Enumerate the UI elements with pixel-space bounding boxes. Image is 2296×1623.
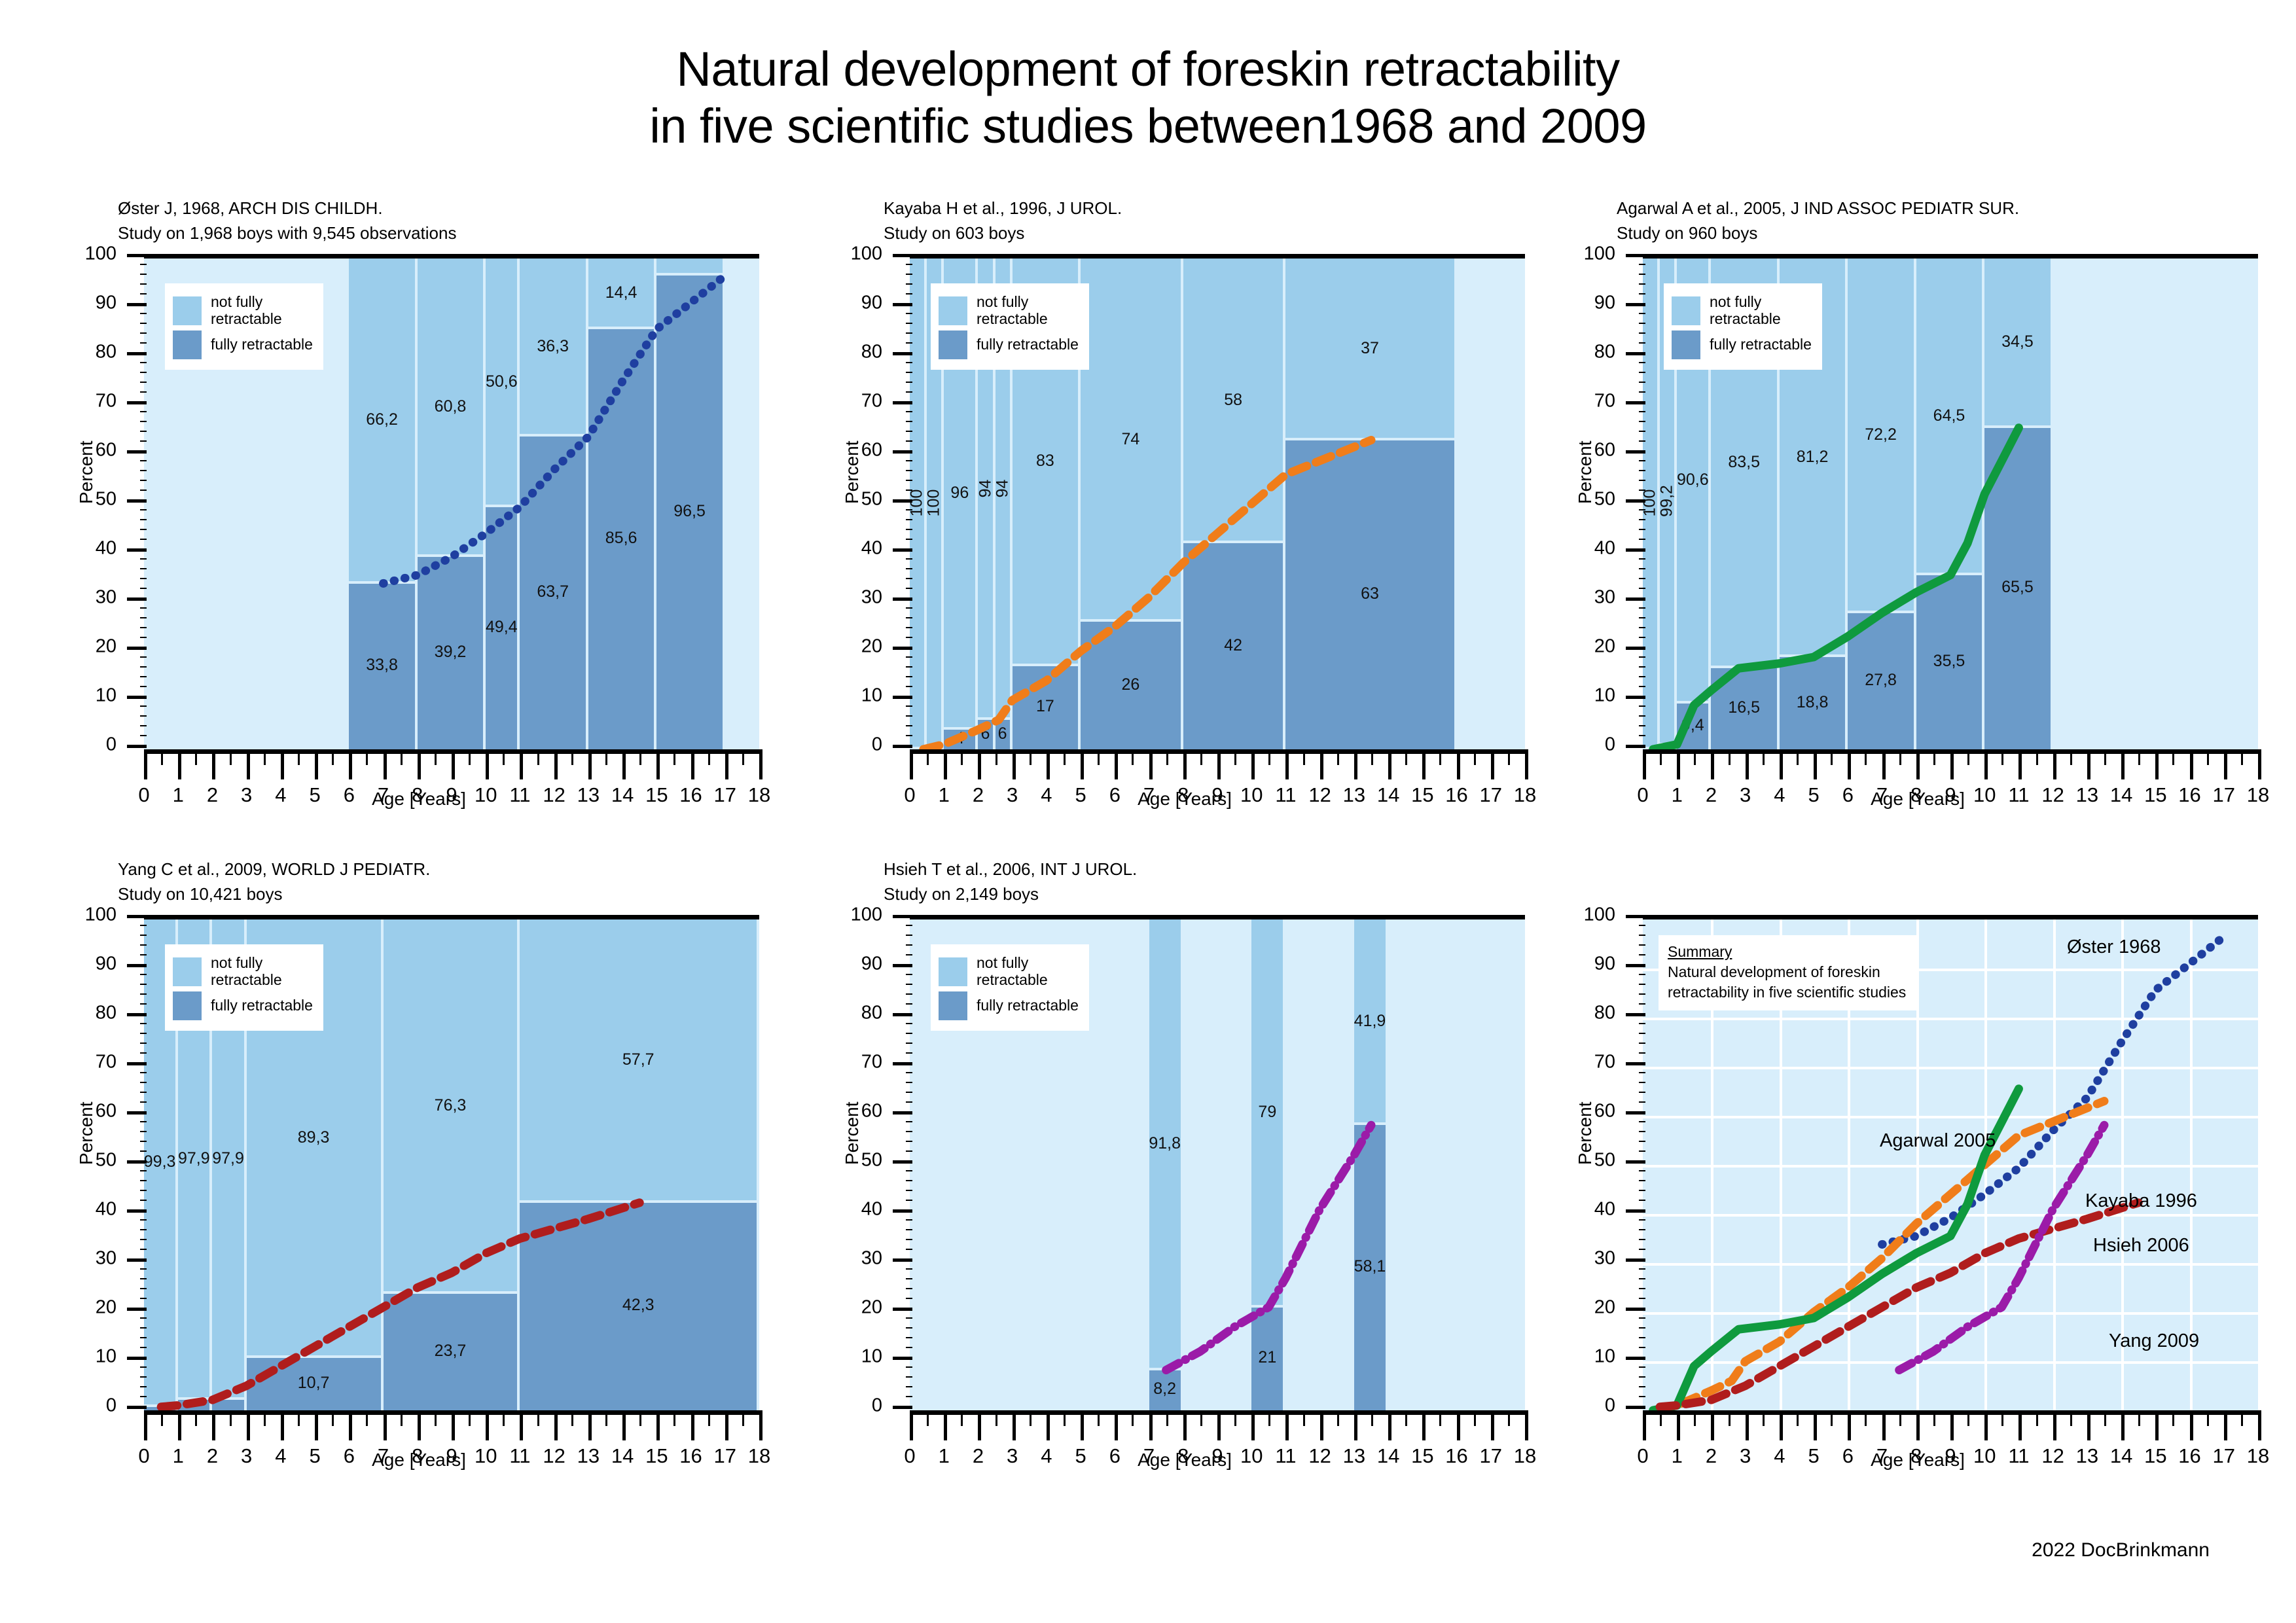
y-tick [1626, 499, 1645, 503]
x-tick [1797, 1410, 1799, 1426]
y-tick [1639, 607, 1645, 609]
x-tick [691, 1410, 694, 1440]
y-tick [1639, 1003, 1645, 1005]
x-tick [366, 1410, 368, 1426]
y-tick [1639, 411, 1645, 412]
y-tick [906, 1298, 912, 1299]
x-tick [927, 749, 929, 765]
y-tick [140, 1101, 147, 1103]
x-tick [1780, 749, 1783, 779]
y-tick-label: 10 [71, 685, 117, 707]
x-tick [2138, 749, 2140, 765]
y-tick [906, 460, 912, 461]
y-tick [1639, 715, 1645, 717]
y-tick [127, 1308, 147, 1311]
y-tick [1639, 323, 1645, 324]
x-tick [1694, 749, 1696, 765]
chart-citation: Yang C et al., 2009, WORLD J PEDIATR. [118, 857, 430, 882]
y-tick [893, 254, 912, 257]
y-tick [140, 1278, 147, 1279]
y-tick [1639, 993, 1645, 995]
x-tick [178, 1410, 181, 1440]
legend-swatch-dark-icon [173, 330, 202, 359]
x-tick [1081, 1410, 1084, 1440]
y-tick [140, 411, 147, 412]
x-tick [1967, 749, 1969, 765]
x-tick [1763, 749, 1765, 765]
chart-study-size: Study on 1,968 boys with 9,545 observati… [118, 221, 456, 246]
x-tick [1132, 749, 1134, 765]
y-tick [127, 745, 147, 748]
legend-swatch-dark-icon [173, 991, 202, 1020]
x-tick [961, 749, 963, 765]
x-tick [2258, 749, 2261, 779]
y-tick [906, 342, 912, 344]
y-tick [127, 915, 147, 918]
chart-panel-summary: SummaryNatural development of foreskinre… [1577, 857, 2296, 1512]
x-tick [1422, 749, 1426, 779]
x-tick [1268, 749, 1270, 765]
x-tick [1643, 1410, 1646, 1440]
x-tick [1047, 749, 1050, 779]
x-tick [486, 749, 489, 779]
y-tick [906, 935, 912, 936]
y-tick [906, 431, 912, 432]
y-tick [127, 696, 147, 699]
y-tick [906, 627, 912, 628]
legend-item-fully-retractable: fully retractable [173, 991, 313, 1020]
x-tick [927, 1410, 929, 1426]
trend-line-hsieh [1166, 1125, 1371, 1370]
title-line-1: Natural development of foreskin retracta… [0, 41, 2296, 98]
y-tick [906, 637, 912, 638]
x-tick [332, 749, 334, 765]
y-tick [1639, 1131, 1645, 1132]
copyright-footer: 2022 DocBrinkmann [2032, 1539, 2210, 1561]
y-tick [906, 1200, 912, 1201]
y-tick [140, 342, 147, 344]
x-tick [332, 1410, 334, 1426]
y-tick [906, 539, 912, 540]
y-tick [1639, 1043, 1645, 1044]
y-tick [906, 1268, 912, 1270]
x-tick [1115, 1410, 1118, 1440]
x-tick [1354, 749, 1357, 779]
y-tick [1639, 1052, 1645, 1054]
y-tick [140, 578, 147, 579]
y-tick [140, 480, 147, 481]
y-tick [140, 323, 147, 324]
x-tick [1234, 749, 1236, 765]
y-tick [1639, 421, 1645, 422]
y-tick [906, 676, 912, 677]
x-tick [161, 749, 163, 765]
x-tick [195, 1410, 197, 1426]
x-tick [588, 1410, 592, 1440]
y-tick [906, 617, 912, 618]
x-tick [435, 749, 437, 765]
x-tick [401, 1410, 403, 1426]
y-tick [127, 964, 147, 967]
y-tick [140, 362, 147, 363]
x-tick [2207, 749, 2209, 765]
y-tick [906, 1072, 912, 1073]
y-tick [1639, 1200, 1645, 1201]
y-axis-label: Percent [1575, 1102, 1596, 1166]
trend-line-agarwal [1653, 428, 2019, 749]
y-tick [1639, 588, 1645, 589]
trend-line-kayaba [924, 440, 1371, 750]
y-tick [1639, 440, 1645, 442]
y-tick [906, 588, 912, 589]
x-tick [1388, 749, 1391, 779]
chart-header: Kayaba H et al., 1996, J UROL.Study on 6… [884, 196, 1122, 245]
y-tick [906, 470, 912, 471]
legend-item-fully-retractable: fully retractable [939, 991, 1079, 1020]
legend-item-fully-retractable: fully retractable [173, 330, 313, 359]
y-tick [1626, 1209, 1645, 1213]
chart-legend: not fullyretractablefully retractable [165, 944, 323, 1031]
x-tick [639, 1410, 641, 1426]
y-tick [127, 1406, 147, 1409]
x-tick [725, 1410, 728, 1440]
y-tick [1626, 254, 1645, 257]
x-tick [281, 749, 284, 779]
y-tick [1639, 382, 1645, 383]
y-tick-label: 30 [1570, 587, 1615, 609]
y-tick-label: 0 [836, 734, 882, 756]
y-tick [1626, 1111, 1645, 1115]
y-axis: 0102030405060708090100 [1618, 254, 1645, 745]
y-tick-label: 20 [71, 1297, 117, 1319]
y-tick [127, 1357, 147, 1360]
y-tick [140, 735, 147, 736]
x-tick [2258, 1410, 2261, 1440]
y-tick-label: 10 [1570, 685, 1615, 707]
x-tick [1149, 1410, 1153, 1440]
x-tick [1200, 1410, 1202, 1426]
y-tick [140, 529, 147, 530]
y-tick [140, 617, 147, 618]
x-tick [1303, 749, 1305, 765]
y-tick [906, 1347, 912, 1348]
y-tick-label: 90 [836, 954, 882, 975]
x-tick [161, 1410, 163, 1426]
x-tick [1525, 749, 1528, 779]
x-axis: 0123456789101112131415161718 [1643, 1410, 2258, 1482]
y-tick-label: 70 [71, 1052, 117, 1073]
y-tick [140, 283, 147, 285]
y-tick [140, 1317, 147, 1319]
x-tick [2207, 1410, 2209, 1426]
x-tick [1064, 1410, 1066, 1426]
x-tick [1525, 1410, 1528, 1440]
x-tick [2053, 1410, 2056, 1440]
y-tick [906, 725, 912, 726]
x-tick [2070, 749, 2072, 765]
x-tick [1882, 749, 1886, 779]
x-tick [2224, 1410, 2227, 1440]
x-tick [1047, 1410, 1050, 1440]
x-tick [2018, 1410, 2022, 1440]
y-tick [140, 274, 147, 275]
x-tick [2241, 1410, 2243, 1426]
y-tick [1639, 1249, 1645, 1250]
x-tick [1149, 749, 1153, 779]
x-tick [1251, 749, 1255, 779]
y-tick [127, 1209, 147, 1213]
y-tick [1639, 460, 1645, 461]
y-tick [1639, 490, 1645, 491]
y-tick [1639, 1121, 1645, 1122]
y-tick-label: 100 [71, 904, 117, 926]
x-axis-label: Age [Years] [79, 789, 759, 810]
y-tick-label: 40 [836, 1199, 882, 1221]
x-tick [1950, 749, 1954, 779]
x-tick [401, 749, 403, 765]
y-tick [906, 1239, 912, 1240]
y-tick-label: 80 [71, 342, 117, 363]
y-tick [893, 1406, 912, 1409]
y-tick-label: 80 [836, 1003, 882, 1024]
y-tick [140, 431, 147, 432]
y-tick [1626, 1062, 1645, 1065]
y-tick [1639, 362, 1645, 363]
y-axis-label: Percent [76, 1102, 97, 1166]
y-tick [1639, 1239, 1645, 1240]
x-tick [554, 1410, 558, 1440]
x-axis-label: Age [Years] [1577, 789, 2258, 810]
y-tick [127, 1258, 147, 1262]
y-tick [906, 274, 912, 275]
x-tick [1320, 1410, 1323, 1440]
y-tick [906, 1101, 912, 1103]
x-tick [1508, 1410, 1510, 1426]
y-tick-label: 20 [71, 636, 117, 658]
y-tick [906, 1278, 912, 1279]
y-tick [140, 490, 147, 491]
y-tick [127, 647, 147, 650]
x-tick [656, 1410, 660, 1440]
y-tick [1626, 745, 1645, 748]
y-tick [140, 1141, 147, 1142]
x-tick [418, 1410, 421, 1440]
y-tick [1639, 1219, 1645, 1221]
chart-study-size: Study on 10,421 boys [118, 882, 430, 907]
title-line-2: in five scientific studies between1968 a… [0, 98, 2296, 154]
y-tick [1626, 352, 1645, 355]
series-label-yang: Yang 2009 [2109, 1330, 2199, 1352]
y-tick [140, 1072, 147, 1073]
y-tick [140, 588, 147, 589]
x-tick [1013, 1410, 1016, 1440]
x-tick [961, 1410, 963, 1426]
y-tick [906, 529, 912, 530]
x-tick [469, 749, 471, 765]
y-tick [1639, 431, 1645, 432]
y-tick [893, 499, 912, 503]
x-tick [2121, 749, 2125, 779]
x-tick [1098, 749, 1100, 765]
y-axis-label: Percent [842, 1102, 863, 1166]
x-tick [452, 1410, 455, 1440]
y-tick [906, 1190, 912, 1191]
y-tick-label: 30 [1570, 1248, 1615, 1270]
y-tick [140, 440, 147, 442]
y-tick [1639, 676, 1645, 677]
y-tick [906, 1033, 912, 1034]
y-tick [140, 656, 147, 658]
legend-swatch-dark-icon [1672, 330, 1700, 359]
y-tick [1626, 647, 1645, 650]
series-label-agarwal: Agarwal 2005 [1880, 1130, 1996, 1152]
page-title: Natural development of foreskin retracta… [0, 41, 2296, 155]
x-tick [1865, 749, 1867, 765]
legend-label-fully-retractable: fully retractable [211, 336, 313, 353]
y-tick [1639, 274, 1645, 275]
x-tick [384, 1410, 387, 1440]
y-tick [906, 440, 912, 442]
x-tick [1899, 749, 1901, 765]
y-tick [906, 974, 912, 975]
y-tick-label: 40 [1570, 1199, 1615, 1221]
x-tick [2087, 1410, 2090, 1440]
y-tick [906, 391, 912, 393]
y-tick-label: 30 [71, 1248, 117, 1270]
x-tick [1354, 1410, 1357, 1440]
y-tick [1626, 450, 1645, 454]
y-tick [906, 283, 912, 285]
x-tick [1081, 749, 1084, 779]
y-tick [140, 1249, 147, 1250]
y-tick [1639, 974, 1645, 975]
y-tick [127, 1160, 147, 1164]
y-tick [1626, 915, 1645, 918]
x-tick [1677, 1410, 1680, 1440]
y-tick [140, 1327, 147, 1329]
y-tick [140, 293, 147, 294]
y-tick [906, 686, 912, 687]
y-tick [1639, 666, 1645, 668]
series-label-hsieh: Hsieh 2006 [2093, 1235, 2189, 1257]
chart-header: Øster J, 1968, ARCH DIS CHILDH.Study on … [118, 196, 456, 245]
y-tick-label: 10 [836, 685, 882, 707]
y-tick [140, 558, 147, 560]
y-tick [906, 1337, 912, 1338]
legend-label-not-fully-retractable: not fullyretractable [977, 955, 1048, 989]
x-axis-label: Age [Years] [79, 1450, 759, 1471]
chart-panel-agarwal: Agarwal A et al., 2005, J IND ASSOC PEDI… [1577, 196, 2296, 851]
x-tick [978, 749, 981, 779]
y-tick [906, 362, 912, 363]
y-tick [140, 1150, 147, 1152]
y-tick [127, 548, 147, 552]
x-tick [1916, 749, 1920, 779]
y-tick [140, 382, 147, 383]
plot-area: 99,397,997,989,310,776,323,757,742,3not … [144, 915, 759, 1415]
x-tick [1950, 1410, 1954, 1440]
y-tick [906, 568, 912, 569]
x-tick [1865, 1410, 1867, 1426]
x-tick [503, 749, 505, 765]
y-tick [127, 254, 147, 257]
y-tick [1639, 1337, 1645, 1338]
chart-citation: Hsieh T et al., 2006, INT J UROL. [884, 857, 1137, 882]
y-tick [906, 607, 912, 609]
y-tick [1639, 372, 1645, 373]
y-tick [906, 1023, 912, 1024]
y-tick [140, 509, 147, 510]
y-tick [893, 548, 912, 552]
y-tick [1639, 470, 1645, 471]
y-tick [1639, 1298, 1645, 1299]
y-tick [906, 715, 912, 717]
y-tick-label: 20 [836, 636, 882, 658]
y-tick [140, 1121, 147, 1122]
x-tick [2070, 1410, 2072, 1426]
y-tick [906, 490, 912, 491]
y-tick [906, 1219, 912, 1221]
y-tick [140, 460, 147, 461]
x-tick [1746, 749, 1749, 779]
y-tick-label: 100 [71, 243, 117, 265]
y-tick [1639, 1288, 1645, 1289]
y-tick [140, 539, 147, 540]
y-tick-label: 0 [1570, 1395, 1615, 1417]
y-tick-label: 80 [1570, 1003, 1615, 1024]
y-tick [906, 293, 912, 294]
x-tick [1371, 1410, 1373, 1426]
y-tick [1639, 1376, 1645, 1378]
y-tick-label: 100 [1570, 904, 1615, 926]
x-tick [1405, 749, 1407, 765]
y-tick [1626, 1308, 1645, 1311]
x-tick [264, 1410, 266, 1426]
x-tick [2121, 1410, 2125, 1440]
y-tick [1639, 1150, 1645, 1152]
x-tick [230, 1410, 232, 1426]
x-tick [639, 749, 641, 765]
summary-line-1: Natural development of foreskin [1668, 962, 1906, 982]
y-tick [1626, 597, 1645, 601]
x-tick [384, 749, 387, 779]
legend-label-fully-retractable: fully retractable [1710, 336, 1812, 353]
y-tick [906, 558, 912, 560]
x-tick [1439, 749, 1441, 765]
y-tick [140, 1386, 147, 1387]
y-tick-label: 20 [1570, 1297, 1615, 1319]
x-tick [1933, 749, 1935, 765]
x-tick [520, 749, 523, 779]
x-tick [978, 1410, 981, 1440]
trend-line-oster [384, 276, 725, 583]
x-tick [1711, 1410, 1714, 1440]
y-tick [893, 597, 912, 601]
y-tick [1639, 705, 1645, 707]
y-tick [127, 1013, 147, 1016]
y-tick [140, 1003, 147, 1005]
y-tick [1639, 1072, 1645, 1073]
y-tick [127, 303, 147, 306]
y-tick [140, 568, 147, 569]
y-axis-label: Percent [76, 441, 97, 505]
y-tick [906, 411, 912, 412]
y-tick [140, 715, 147, 717]
x-tick [1337, 749, 1339, 765]
legend-item-not-fully-retractable: not fullyretractable [173, 294, 313, 328]
y-tick [1639, 1386, 1645, 1387]
x-tick [1166, 1410, 1168, 1426]
